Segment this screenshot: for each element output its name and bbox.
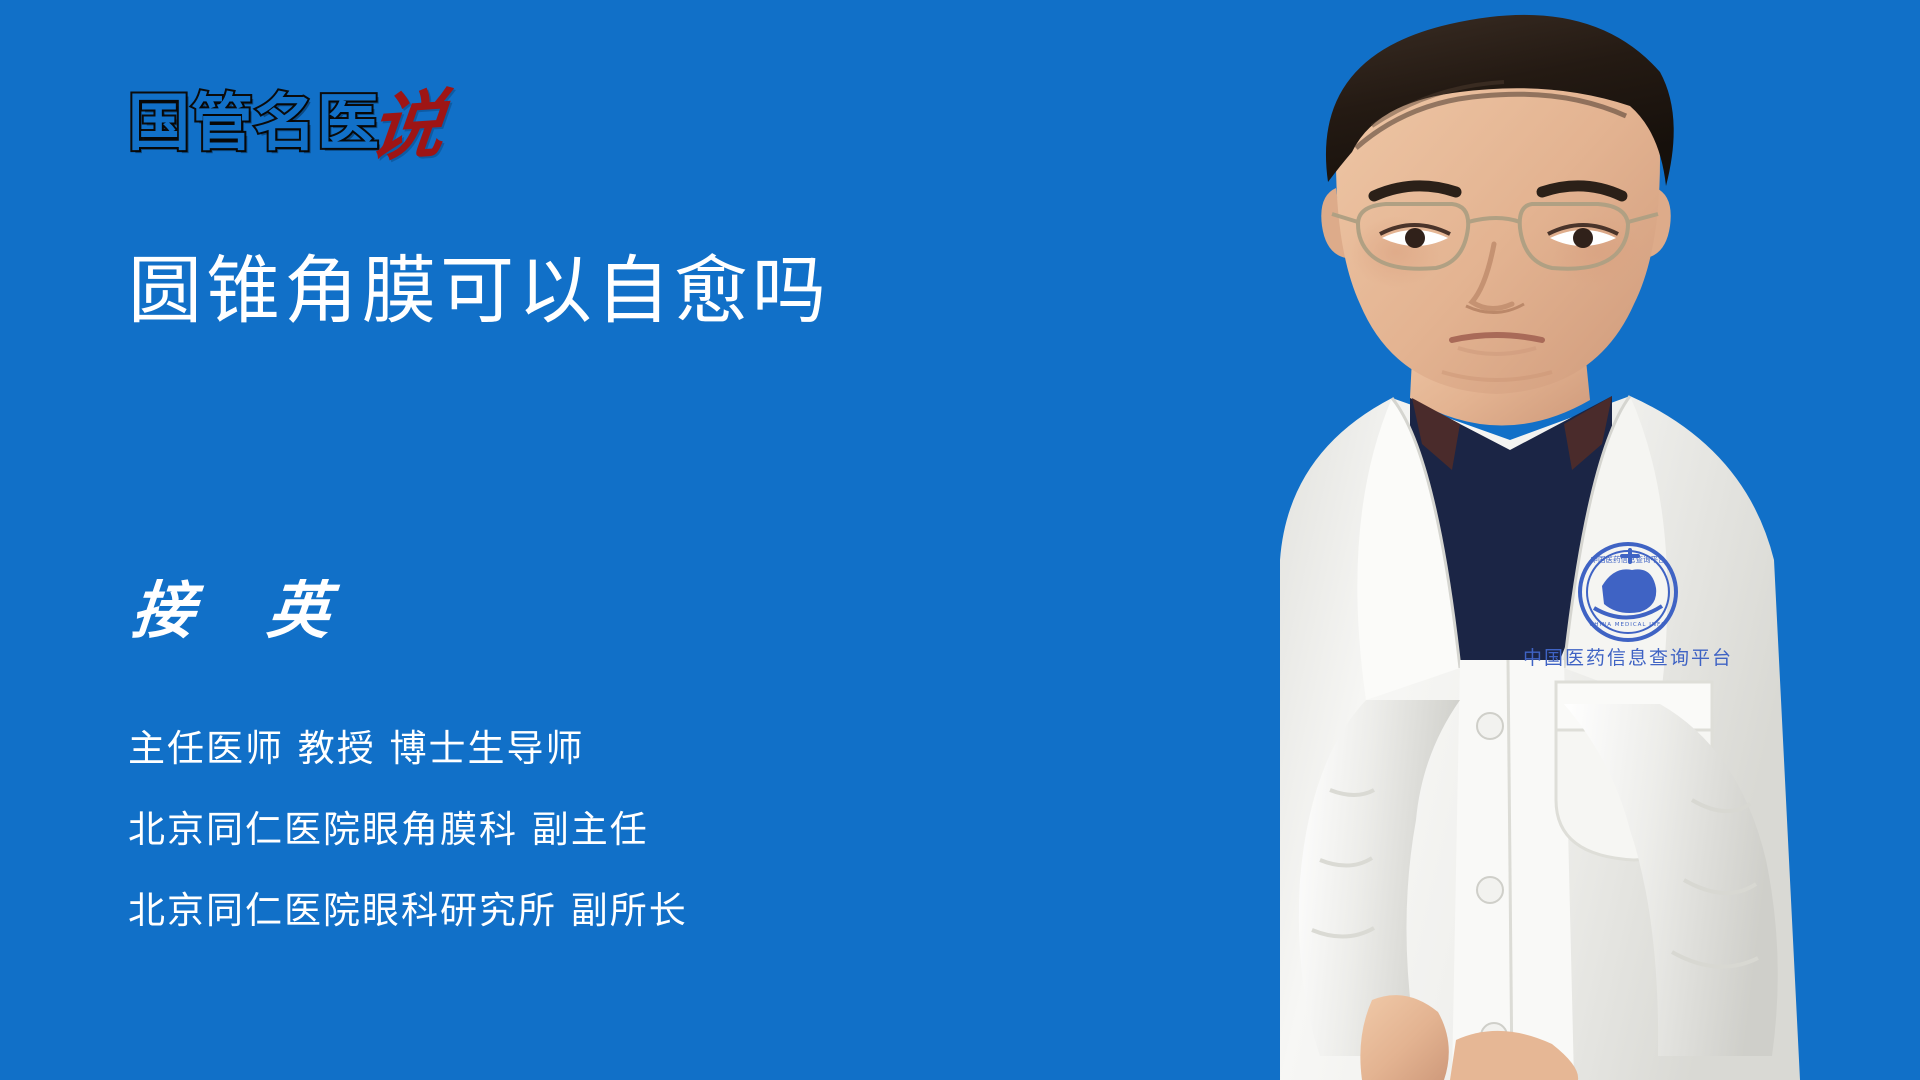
doctor-portrait: 中国医药信息查询平台 CHINA MEDICAL INFO 中国医药信息查询平台: [1160, 0, 1920, 1080]
credential-line: 主任医师 教授 博士生导师: [128, 730, 688, 767]
brand-logo: 国管名医 说: [128, 92, 444, 154]
brand-logo-main-text: 国管名医: [128, 92, 380, 154]
page-title: 圆锥角膜可以自愈吗: [128, 252, 830, 332]
brand-logo-accent-text: 说: [366, 90, 448, 165]
svg-text:中国医药信息查询平台: 中国医药信息查询平台: [1523, 647, 1733, 669]
svg-text:CHINA MEDICAL INFO: CHINA MEDICAL INFO: [1590, 622, 1667, 628]
doctor-credentials: 主任医师 教授 博士生导师 北京同仁医院眼角膜科 副主任 北京同仁医院眼科研究所…: [128, 730, 688, 929]
doctor-name: 接 英: [129, 580, 358, 642]
thumbnail-canvas: 国管名医 说 圆锥角膜可以自愈吗 接 英 主任医师 教授 博士生导师 北京同仁医…: [0, 0, 1920, 1080]
credential-line: 北京同仁医院眼角膜科 副主任: [128, 811, 688, 848]
credential-line: 北京同仁医院眼科研究所 副所长: [128, 892, 688, 929]
svg-text:中国医药信息查询平台: 中国医药信息查询平台: [1591, 554, 1666, 564]
